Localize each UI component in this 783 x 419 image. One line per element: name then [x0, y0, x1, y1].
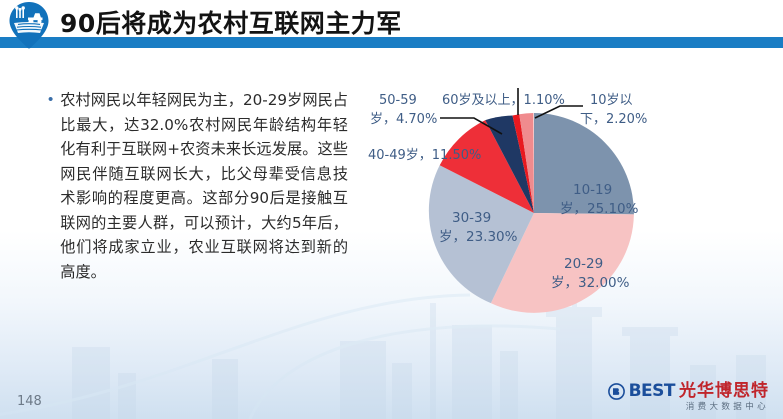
pie-label-20-29: 20-29 [564, 256, 603, 272]
bullet-dot-icon: • [48, 88, 53, 112]
page-title: 90后将成为农村互联网主力军 [60, 4, 402, 40]
page-number: 148 [17, 394, 42, 409]
pie-label-10-19: 10-19 [573, 182, 612, 198]
farm-pin-icon [8, 1, 50, 49]
pie-label-50-59: 50-59 [379, 93, 417, 108]
brand-mark: BEST [629, 383, 675, 400]
pie-label-under-10-value: 下，2.20% [580, 112, 647, 127]
slide-header: 90后将成为农村互联网主力军 [0, 0, 783, 52]
pie-label-30-39: 30-39 [452, 210, 491, 226]
pie-label-50-59-value: 岁，4.70% [370, 112, 437, 127]
pie-label-60-plus: 60岁及以上，1.10% [442, 93, 565, 108]
bullet-paragraph: • 农村网民以年轻网民为主，20-29岁网民占比最大，达32.0%农村网民年龄结… [48, 88, 348, 284]
pie-label-40-49: 40-49岁，11.50% [368, 148, 481, 163]
pie-slice-10-19[interactable] [534, 113, 634, 214]
brand-logo: BEST 光华博思特 消费大数据中心 [608, 383, 769, 412]
brand-subtitle: 消费大数据中心 [608, 403, 769, 412]
pie-label-20-29-value: 岁，32.00% [551, 275, 630, 291]
slide-canvas: 90后将成为农村互联网主力军 • 农村网民以年轻网民为主，20-29岁网民占比最… [0, 0, 783, 419]
pie-label-30-39-value: 岁，23.30% [439, 229, 518, 245]
pie-label-10-19-value: 岁，25.10% [560, 201, 639, 217]
brand-name: 光华博思特 [679, 383, 769, 400]
pie-label-under-10: 10岁以 [590, 93, 633, 108]
best-circle-icon [608, 383, 625, 400]
age-distribution-pie-chart: 50-59 岁，4.70% 60岁及以上，1.10% 10岁以 下，2.20% … [368, 82, 780, 332]
bullet-text: 农村网民以年轻网民为主，20-29岁网民占比最大，达32.0%农村网民年龄结构年… [60, 88, 348, 284]
